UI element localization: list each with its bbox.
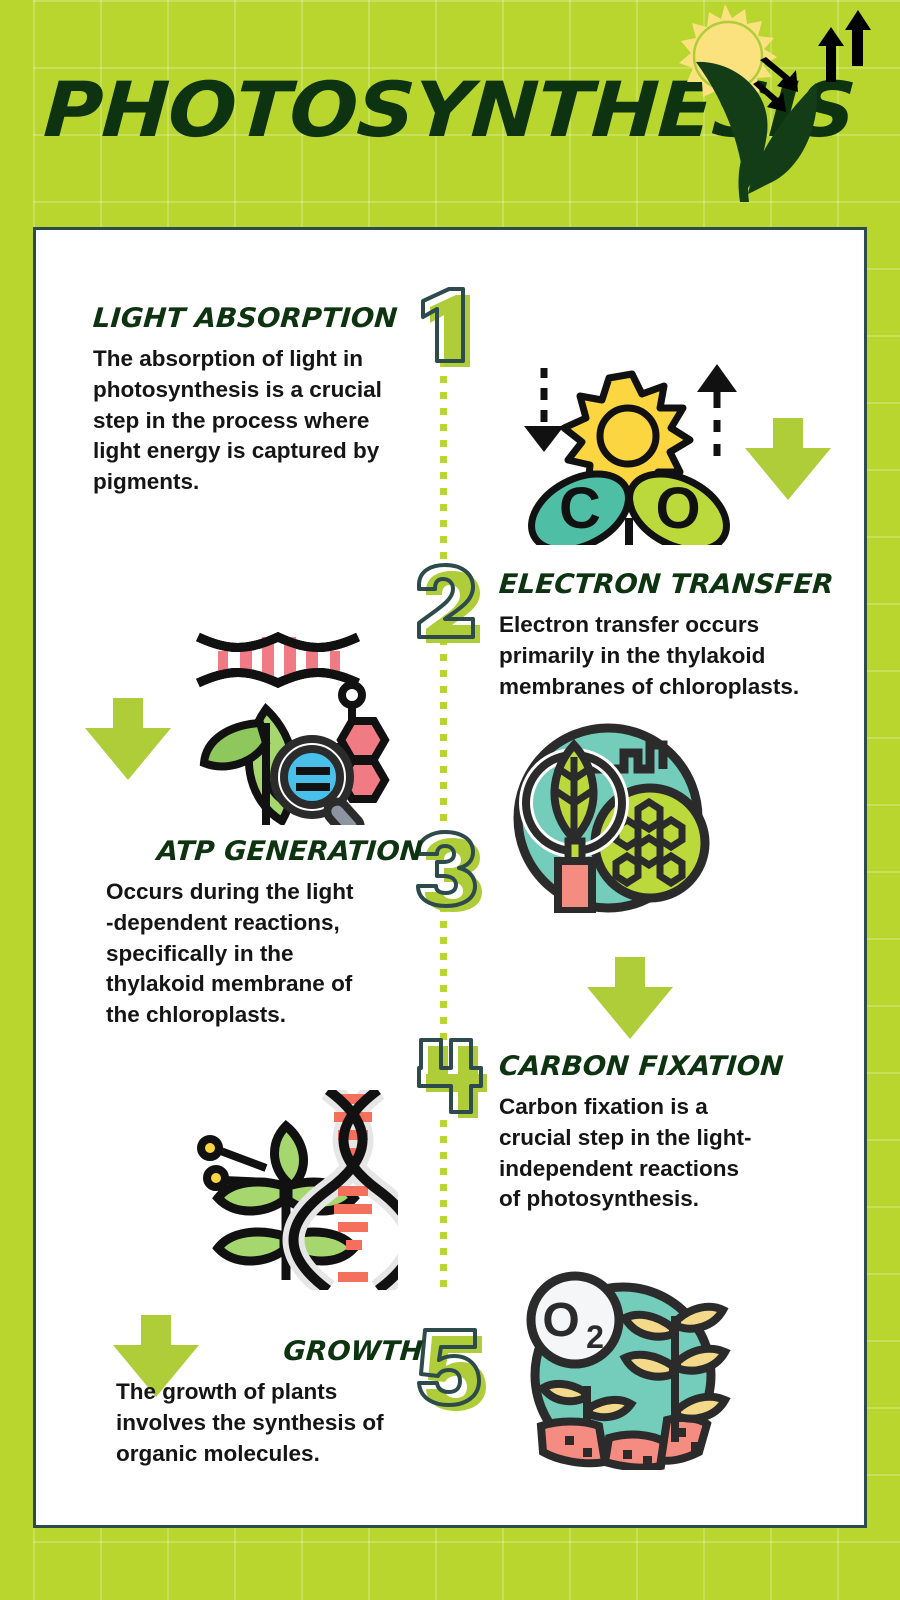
step-5-body: The growth of plants involves the synthe… <box>76 1377 438 1469</box>
oxygen-label-icon: O 2 <box>531 1276 619 1364</box>
chloroplast-magnifier-icon <box>498 723 718 918</box>
step-1-text: LIGHT ABSORPTION The absorption of light… <box>93 305 438 498</box>
step-3-heading: ATP GENERATION <box>75 838 446 865</box>
arrow-down-icon <box>83 698 173 787</box>
step-1-body: The absorption of light in photosynthesi… <box>93 344 438 498</box>
sun-co2-leaves-icon: C O <box>508 360 758 550</box>
up-arrowhead-icon <box>697 364 737 392</box>
dna-helix-icon <box>198 637 358 683</box>
arrow-down-icon <box>743 418 833 507</box>
dotted-connector-line <box>440 905 447 1055</box>
step-4-text: CARBON FIXATION Carbon fixation is a cru… <box>499 1053 859 1215</box>
step-3-body: Occurs during the light -dependent react… <box>76 877 438 1031</box>
leaf-icon <box>554 745 593 839</box>
plant-dna-helix-icon <box>188 1090 398 1295</box>
down-arrowhead-icon <box>524 426 564 452</box>
content-card: LIGHT ABSORPTION The absorption of light… <box>33 227 867 1528</box>
step-4-heading: CARBON FIXATION <box>498 1053 867 1080</box>
step-1-number <box>415 287 487 371</box>
step-2-text: ELECTRON TRANSFER Electron transfer occu… <box>499 571 859 702</box>
infographic-poster: PHOTOSYNTHESIS <box>0 0 900 1600</box>
dna-leaf-molecule-icon <box>186 625 406 830</box>
plant-icon <box>201 1126 354 1280</box>
dotted-connector-line <box>440 1120 447 1295</box>
dotted-connector-line <box>440 360 447 565</box>
step-5-text: GROWTH The growth of plants involves the… <box>76 1338 438 1469</box>
step-4-number <box>415 1038 487 1122</box>
header: PHOTOSYNTHESIS <box>0 0 900 227</box>
step-2-body: Electron transfer occurs primarily in th… <box>499 610 859 702</box>
step-1-heading: LIGHT ABSORPTION <box>92 305 446 332</box>
step-2-number <box>415 563 487 647</box>
oxygen-out-arrow-icon <box>818 10 871 82</box>
step-2-heading: ELECTRON TRANSFER <box>498 571 867 598</box>
header-illustration <box>650 4 900 204</box>
svg-text:O: O <box>655 476 700 541</box>
arrow-down-icon <box>585 957 675 1046</box>
dotted-connector-line <box>440 638 447 833</box>
step-5-heading: GROWTH <box>75 1338 446 1365</box>
oxygen-plants-icon: O 2 <box>513 1270 733 1475</box>
svg-text:C: C <box>559 476 601 541</box>
svg-text:2: 2 <box>586 1319 604 1355</box>
step-4-body: Carbon fixation is a crucial step in the… <box>499 1092 859 1215</box>
svg-text:O: O <box>542 1294 579 1347</box>
step-3-text: ATP GENERATION Occurs during the light -… <box>76 838 438 1031</box>
